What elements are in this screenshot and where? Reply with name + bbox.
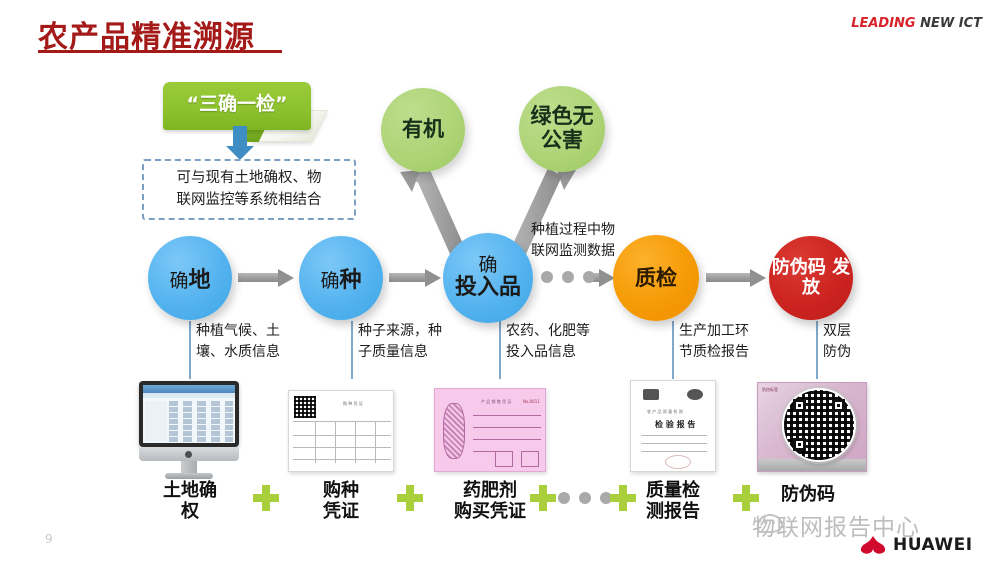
- flow-label-land-bold: 地: [189, 262, 211, 294]
- flow-circle-step-input: 确 投入品: [443, 233, 533, 323]
- artifact-label-seed-purchase-voucher: 购种 凭证: [285, 480, 397, 522]
- artifact-seed-purchase-voucher: 购 种 凭 证: [288, 390, 394, 472]
- brand-tagline: LEADING NEW ICT: [851, 16, 982, 31]
- flow-label-input-light: 确: [455, 256, 521, 276]
- down-arrow-icon: [233, 126, 247, 146]
- outcome-label-organic: 有机: [402, 118, 444, 142]
- outcome-circle-organic: 有机: [381, 88, 465, 172]
- report-logo-right-icon: [687, 389, 703, 400]
- flow-label-input-bold: 投入品: [455, 276, 521, 299]
- flow-circle-step-qc: 质检: [613, 235, 699, 321]
- huawei-logo: HUAWEI: [860, 535, 973, 555]
- artifact-label-land-right-certificate: 土地确 权: [134, 480, 246, 522]
- artifact-land-right-certificate: [139, 381, 239, 481]
- connector-line-seed: [351, 321, 353, 379]
- imac-sidebar: [145, 401, 167, 441]
- report-stamp-icon: [665, 455, 691, 469]
- imac-screen: [139, 381, 239, 447]
- imac-titlebar: [143, 385, 235, 393]
- title-underline: [38, 50, 282, 53]
- caption-step-seed: 种子来源，种 子质量信息: [358, 321, 442, 363]
- note-text: 可与现有土地确权、物 联网监控等系统相结合: [177, 168, 322, 210]
- plus-icon-3: [530, 485, 556, 511]
- qr-code-magnified-icon: [782, 388, 856, 462]
- caption-step-qc: 生产加工环 节质检报告: [679, 321, 749, 363]
- iot-monitoring-note: 种植过程中物 联网监测数据: [531, 220, 615, 262]
- receipt-ornament: [443, 403, 465, 459]
- slide-canvas: 农产品精准溯源 LEADING NEW ICT 9 “三确一检” 可与现有土地确…: [0, 0, 1000, 562]
- plus-icon-1: [253, 485, 279, 511]
- flow-label-seed-light: 确: [320, 266, 339, 293]
- huawei-flower-icon: [860, 536, 886, 555]
- voucher-qr-icon: [294, 396, 316, 418]
- flow-circle-step-code: 防伪码 发放: [769, 236, 853, 320]
- flow-circle-step-land: 确 地: [148, 236, 232, 320]
- ribbon-banner: “三确一检”: [163, 82, 311, 130]
- flow-circle-step-seed: 确 种: [299, 236, 383, 320]
- brand-leading-text: LEADING: [851, 16, 915, 31]
- flow-label-land-light: 确: [169, 266, 188, 293]
- brand-ict-text: NEW ICT: [920, 16, 982, 31]
- imac-menubar: [143, 393, 235, 398]
- dots-input-to-qc: [541, 271, 595, 283]
- note-box: 可与现有土地确权、物 联网监控等系统相结合: [142, 159, 356, 220]
- page-number: 9: [45, 532, 53, 546]
- outcome-circle-green-safe: 绿色无 公害: [519, 86, 605, 172]
- artifact-label-quality-test-report: 质量检 测报告: [617, 480, 729, 522]
- imac-stand-base: [165, 473, 213, 479]
- caption-step-input: 农药、化肥等 投入品信息: [506, 321, 590, 363]
- imac-display: [143, 385, 235, 443]
- plus-icon-2: [397, 485, 423, 511]
- connector-line-code: [816, 321, 818, 379]
- connector-line-land: [189, 321, 191, 379]
- imac-table-grid: [169, 401, 233, 441]
- connector-line-qc: [672, 321, 674, 379]
- caption-step-code: 双层 防伪: [823, 321, 851, 363]
- outcome-label-green-safe: 绿色无 公害: [519, 105, 605, 152]
- voucher-heading: 购 种 凭 证: [343, 401, 363, 407]
- flow-label-seed-bold: 种: [340, 262, 362, 294]
- arrow-qc-to-code-icon: [706, 269, 766, 286]
- caption-step-land: 种植气候、土 壤、水质信息: [196, 321, 280, 363]
- ribbon-label: “三确一检”: [163, 82, 311, 126]
- imac-chin: [139, 447, 239, 461]
- connector-line-input: [499, 321, 501, 379]
- flow-label-code: 防伪码 发放: [769, 258, 853, 298]
- report-logo-left-icon: [643, 389, 659, 400]
- artifact-agrochemical-receipt: 产 品 销 售 凭 证 No.0011: [434, 388, 546, 472]
- arrow-seed-to-input-icon: [389, 269, 441, 286]
- flow-label-qc: 质检: [635, 266, 677, 290]
- huawei-wordmark: HUAWEI: [893, 535, 973, 555]
- artifact-label-anti-counterfeit-code: 防伪码: [752, 484, 864, 505]
- arrow-land-to-seed-icon: [238, 269, 294, 286]
- artifact-quality-test-report: 农 产 品 质 量 检 测 检 验 报 告: [630, 380, 716, 472]
- dots-bottom-sequence: [558, 492, 612, 504]
